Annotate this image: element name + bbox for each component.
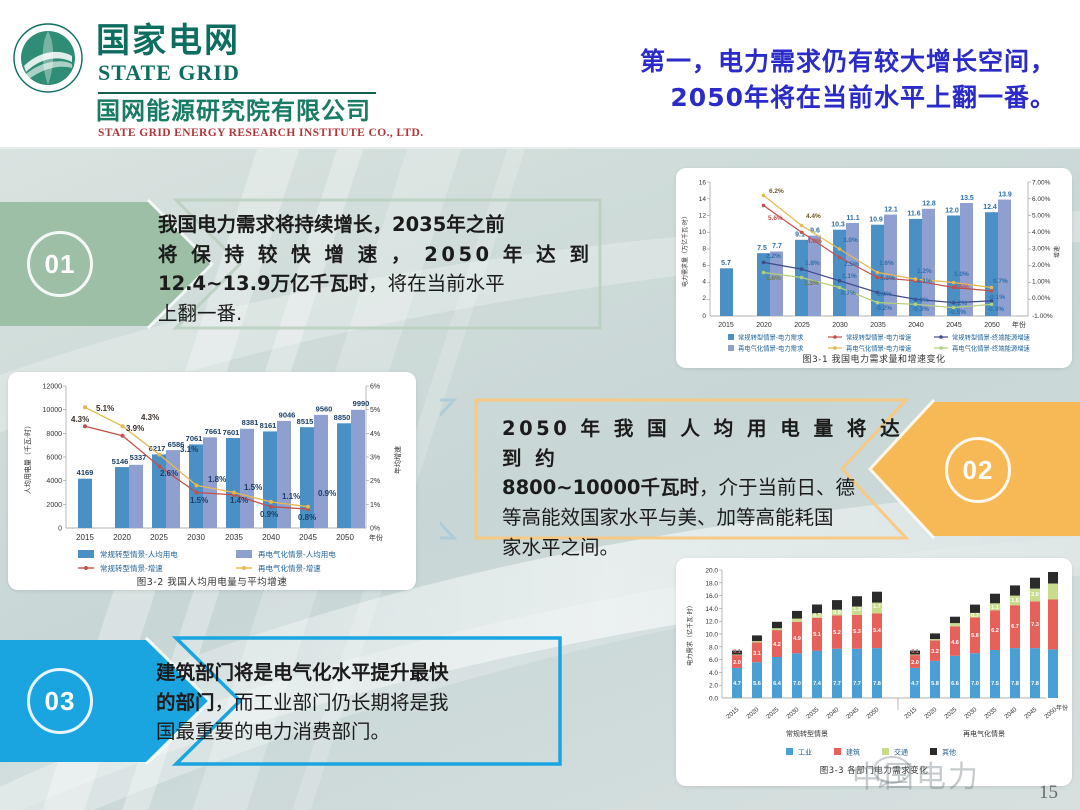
- svg-text:6.0: 6.0: [709, 657, 718, 664]
- chart-card-fig3-2: 12000100008000 600040002000 0 6%5%4% 3%2…: [8, 372, 416, 590]
- svg-text:5.7: 5.7: [721, 260, 731, 267]
- svg-text:5.6: 5.6: [971, 633, 979, 639]
- svg-text:2.0: 2.0: [733, 660, 741, 666]
- svg-text:0.9: 0.9: [833, 610, 841, 616]
- svg-text:1.1%: 1.1%: [917, 278, 932, 285]
- svg-text:0.7: 0.7: [813, 613, 821, 619]
- svg-text:2030: 2030: [832, 322, 848, 329]
- svg-text:再电气化情景-人均用电: 再电气化情景-人均用电: [258, 549, 336, 559]
- svg-text:1.2%: 1.2%: [917, 268, 932, 275]
- svg-text:3.00%: 3.00%: [1032, 246, 1051, 253]
- svg-text:3.2: 3.2: [931, 649, 939, 655]
- svg-text:0: 0: [58, 526, 62, 533]
- svg-text:12.4: 12.4: [983, 204, 997, 211]
- header-divider: [0, 147, 1080, 149]
- svg-text:5.2: 5.2: [833, 630, 841, 636]
- svg-text:0%: 0%: [370, 526, 380, 533]
- svg-text:5337: 5337: [130, 453, 147, 462]
- svg-text:2.6%: 2.6%: [160, 469, 178, 478]
- svg-text:2040: 2040: [262, 533, 280, 542]
- svg-text:4.2: 4.2: [773, 642, 781, 648]
- svg-text:电力需求量（万亿千瓦·时）: 电力需求量（万亿千瓦·时）: [681, 213, 689, 287]
- svg-text:7.0: 7.0: [971, 681, 979, 687]
- svg-text:2035: 2035: [870, 322, 886, 329]
- svg-text:常规转型情景: 常规转型情景: [786, 729, 828, 738]
- callout-03-line2: 的部门: [156, 691, 215, 714]
- svg-text:6.4: 6.4: [773, 681, 782, 687]
- svg-text:3.1%: 3.1%: [180, 445, 198, 454]
- chart-fig3-1: 161412 1086 420 7.00%6.00%5.00% 4.00%3.0…: [676, 168, 1072, 368]
- svg-text:4.9: 4.9: [793, 636, 801, 642]
- svg-text:12000: 12000: [43, 384, 63, 391]
- svg-text:1.1%: 1.1%: [842, 273, 857, 280]
- svg-text:1.5%: 1.5%: [190, 496, 208, 505]
- svg-text:0.0%: 0.0%: [914, 297, 929, 304]
- svg-text:2025: 2025: [150, 533, 168, 542]
- svg-text:5.4: 5.4: [873, 628, 882, 634]
- svg-text:4169: 4169: [77, 468, 94, 477]
- svg-text:5146: 5146: [112, 457, 129, 466]
- svg-text:-0.3%: -0.3%: [912, 306, 929, 313]
- svg-text:16.0: 16.0: [705, 593, 718, 600]
- callout-02-line3: 等高能效国家水平与美、加等高能耗国: [502, 506, 834, 529]
- svg-text:-0.2%: -0.2%: [875, 305, 892, 312]
- svg-text:7.0: 7.0: [793, 681, 801, 687]
- svg-text:2.0: 2.0: [1031, 592, 1039, 598]
- svg-text:2.5%: 2.5%: [844, 261, 859, 268]
- svg-text:10.9: 10.9: [869, 217, 883, 224]
- svg-text:4.00%: 4.00%: [1032, 229, 1051, 236]
- callout-01-line1: 我国电力需求将持续增长，2035年之前: [158, 213, 505, 236]
- callout-01-line2: 将 保 持 较 快 增 速 ， 2050 年 达 到: [158, 243, 592, 266]
- slide-title-line2: 2050年将在当前水平上翻一番。: [536, 80, 1056, 116]
- svg-text:-1.00%: -1.00%: [1032, 313, 1053, 320]
- callout-03-line3: 国最重要的电力消费部门。: [156, 720, 390, 743]
- callout-02[interactable]: 02 2050 年 我 国 人 均 用 电 量 将 达 到 约 8800~100…: [440, 398, 1080, 540]
- callout-01-line4: 上翻一番.: [158, 302, 242, 325]
- svg-text:4000: 4000: [46, 478, 62, 485]
- svg-text:5%: 5%: [370, 407, 380, 414]
- svg-text:6.7: 6.7: [1011, 624, 1019, 630]
- svg-text:5.3: 5.3: [853, 629, 861, 635]
- svg-text:1.0%: 1.0%: [954, 271, 969, 278]
- svg-text:年份: 年份: [1056, 704, 1068, 712]
- svg-text:7661: 7661: [205, 427, 222, 436]
- svg-text:2.00%: 2.00%: [1032, 262, 1051, 269]
- callout-01-text: 我国电力需求将持续增长，2035年之前 将 保 持 较 快 增 速 ， 2050…: [158, 210, 610, 329]
- svg-text:-0.1%: -0.1%: [988, 294, 1005, 301]
- svg-text:11.1: 11.1: [846, 215, 859, 222]
- svg-text:6.00%: 6.00%: [1032, 196, 1051, 203]
- svg-text:5.6: 5.6: [753, 681, 761, 687]
- svg-text:1%: 1%: [370, 502, 380, 509]
- institute-name-en: STATE GRID ENERGY RESEARCH INSTITUTE CO.…: [98, 128, 423, 140]
- svg-text:增速: 增速: [1053, 246, 1061, 258]
- callout-03-line1: 建筑部门将是电气化水平提升最快: [156, 661, 449, 684]
- svg-text:4.0: 4.0: [709, 670, 718, 677]
- svg-text:0.7%: 0.7%: [993, 278, 1008, 285]
- svg-text:2%: 2%: [370, 478, 380, 485]
- svg-text:2.0: 2.0: [709, 683, 718, 690]
- svg-text:8000: 8000: [46, 431, 62, 438]
- svg-text:3.1: 3.1: [753, 651, 761, 657]
- svg-text:14: 14: [699, 196, 707, 203]
- svg-text:年份: 年份: [369, 533, 383, 542]
- svg-text:2020: 2020: [756, 322, 772, 329]
- chart-card-fig3-1: 161412 1086 420 7.00%6.00%5.00% 4.00%3.0…: [676, 168, 1072, 368]
- chart-fig3-1-caption: 图3-1 我国电力需求量和增速变化: [676, 352, 1072, 365]
- svg-text:1.7: 1.7: [873, 604, 881, 610]
- institute-name-cn: 国网能源研究院有限公司: [96, 98, 371, 124]
- svg-text:16: 16: [699, 180, 707, 187]
- callout-02-line2: 8800~10000千瓦时: [502, 476, 699, 499]
- svg-text:2.0: 2.0: [911, 660, 919, 666]
- svg-text:3%: 3%: [370, 455, 380, 462]
- svg-text:0.7: 0.7: [971, 613, 979, 619]
- callout-01-number: 01: [45, 249, 76, 280]
- svg-text:常规转型情景-电力需求: 常规转型情景-电力需求: [738, 333, 804, 342]
- svg-text:13.9: 13.9: [998, 192, 1012, 199]
- svg-text:12.8: 12.8: [922, 201, 936, 208]
- svg-text:4.0%: 4.0%: [807, 238, 822, 245]
- svg-text:7.7: 7.7: [853, 681, 861, 687]
- svg-text:0.3: 0.3: [773, 623, 781, 629]
- svg-text:4: 4: [702, 279, 706, 286]
- svg-text:再电气化情景: 再电气化情景: [963, 729, 1005, 738]
- svg-text:人均用电量（千瓦·时）: 人均用电量（千瓦·时）: [23, 422, 32, 494]
- svg-text:20.0: 20.0: [705, 568, 718, 575]
- svg-text:12.1: 12.1: [884, 207, 898, 214]
- svg-text:1.1: 1.1: [991, 605, 999, 611]
- svg-text:8515: 8515: [297, 417, 314, 426]
- svg-text:0.9%: 0.9%: [260, 510, 278, 519]
- svg-text:10: 10: [699, 229, 707, 236]
- svg-text:8.0: 8.0: [709, 644, 718, 651]
- svg-text:4.3%: 4.3%: [71, 415, 89, 424]
- svg-text:2: 2: [702, 295, 706, 302]
- svg-text:1.1%: 1.1%: [282, 492, 300, 501]
- svg-text:7601: 7601: [223, 428, 240, 437]
- svg-text:2.2%: 2.2%: [766, 253, 781, 260]
- svg-text:常规转型情景-增速: 常规转型情景-增速: [100, 563, 163, 573]
- svg-text:工业: 工业: [798, 748, 812, 757]
- chart-fig3-2-caption: 图3-2 我国人均用电量与平均增速: [8, 574, 416, 588]
- svg-text:9046: 9046: [279, 411, 296, 420]
- svg-text:1.5: 1.5: [1011, 598, 1019, 604]
- callout-02-line4: 家水平之间。: [502, 536, 619, 559]
- svg-text:2030: 2030: [187, 533, 205, 542]
- callout-03-number: 03: [45, 686, 76, 717]
- svg-text:2020: 2020: [113, 533, 131, 542]
- svg-text:0.8%: 0.8%: [298, 513, 316, 522]
- svg-text:2025: 2025: [794, 322, 810, 329]
- svg-text:年均增速: 年均增速: [393, 446, 402, 474]
- svg-text:1.8%: 1.8%: [805, 260, 820, 267]
- brand-name-en: STATE GRID: [98, 62, 240, 84]
- slide-title-line1: 第一，电力需求仍有较大增长空间，: [536, 44, 1056, 80]
- svg-text:2035: 2035: [225, 533, 243, 542]
- callout-02-number: 02: [963, 455, 994, 486]
- svg-text:常规转型情景-电力增速: 常规转型情景-电力增速: [846, 333, 912, 342]
- svg-text:0.9%: 0.9%: [318, 489, 336, 498]
- svg-text:3.9%: 3.9%: [126, 424, 144, 433]
- slide-title: 第一，电力需求仍有较大增长空间， 2050年将在当前水平上翻一番。: [536, 44, 1056, 117]
- svg-text:2050: 2050: [984, 322, 1000, 329]
- svg-text:4.6: 4.6: [951, 640, 959, 646]
- svg-text:18.0: 18.0: [705, 580, 718, 587]
- svg-text:7.3: 7.3: [1031, 622, 1039, 628]
- svg-text:4%: 4%: [370, 431, 380, 438]
- svg-text:1.8%: 1.8%: [208, 475, 226, 484]
- svg-text:10.0: 10.0: [705, 632, 718, 639]
- svg-text:7.5: 7.5: [991, 681, 999, 687]
- state-grid-emblem-icon: [12, 22, 84, 94]
- svg-text:再电气化情景-增速: 再电气化情景-增速: [258, 563, 321, 573]
- svg-text:2040: 2040: [908, 322, 924, 329]
- svg-text:5.6%: 5.6%: [768, 215, 783, 222]
- svg-text:0.00%: 0.00%: [1032, 295, 1051, 302]
- svg-text:2045: 2045: [299, 533, 317, 542]
- svg-text:0.5: 0.5: [951, 618, 959, 624]
- svg-text:电力需求（亿千瓦·时）: 电力需求（亿千瓦·时）: [686, 602, 694, 666]
- callout-02-line2b: ，介于当前日、德: [699, 476, 855, 499]
- svg-text:年份: 年份: [1012, 320, 1026, 329]
- svg-text:6.6: 6.6: [951, 681, 959, 687]
- svg-text:5.00%: 5.00%: [1032, 213, 1051, 220]
- svg-text:7061: 7061: [186, 434, 203, 443]
- svg-text:常规转型情景-终端能源增速: 常规转型情景-终端能源增速: [952, 333, 1031, 342]
- svg-text:0.5%: 0.5%: [954, 284, 969, 291]
- svg-text:2000: 2000: [46, 502, 62, 509]
- svg-text:1.4%: 1.4%: [230, 496, 248, 505]
- callout-01-line3b: ，将在当前水平: [368, 272, 505, 295]
- svg-text:8161: 8161: [260, 421, 277, 430]
- callout-02-badge: 02: [940, 436, 1016, 504]
- svg-text:6.2%: 6.2%: [769, 188, 784, 195]
- svg-text:2015: 2015: [718, 322, 734, 329]
- svg-text:9560: 9560: [316, 405, 333, 414]
- svg-text:12: 12: [699, 213, 707, 220]
- svg-text:7.00%: 7.00%: [1032, 180, 1051, 187]
- svg-text:0: 0: [702, 313, 706, 320]
- svg-text:0.7%: 0.7%: [841, 290, 856, 297]
- svg-text:7.8: 7.8: [1031, 681, 1039, 687]
- page-number: 15: [1039, 782, 1058, 804]
- callout-02-text: 2050 年 我 国 人 均 用 电 量 将 达 到 约 8800~10000千…: [502, 414, 922, 562]
- svg-text:1.3%: 1.3%: [880, 275, 895, 282]
- svg-text:4.7: 4.7: [733, 681, 741, 687]
- chart-fig3-2: 12000100008000 600040002000 0 6%5%4% 3%2…: [8, 372, 416, 590]
- svg-text:7.7: 7.7: [772, 243, 782, 250]
- svg-text:7.7: 7.7: [833, 681, 841, 687]
- svg-text:6%: 6%: [370, 384, 380, 391]
- svg-text:4.3%: 4.3%: [141, 413, 159, 422]
- brand-name-cn: 国家电网: [96, 24, 240, 58]
- callout-03-badge: 03: [22, 667, 98, 735]
- svg-text:-0.5%: -0.5%: [949, 309, 966, 316]
- svg-text:5.1: 5.1: [813, 632, 821, 638]
- callout-03[interactable]: 03 建筑部门将是电气化水平提升最快 的部门，而工业部门仍长期将是我 国最重要的…: [0, 632, 620, 770]
- svg-text:10.3: 10.3: [831, 222, 845, 229]
- svg-text:3.0%: 3.0%: [843, 237, 858, 244]
- svg-text:7.8: 7.8: [1011, 681, 1019, 687]
- callout-01-line3: 12.4~13.9万亿千瓦时: [158, 272, 368, 295]
- svg-text:0.0: 0.0: [709, 696, 718, 703]
- svg-text:12.0: 12.0: [945, 208, 959, 215]
- svg-text:7.5: 7.5: [757, 245, 767, 252]
- svg-text:常规转型情景-人均用电: 常规转型情景-人均用电: [100, 549, 178, 559]
- svg-text:7.8: 7.8: [873, 681, 881, 687]
- svg-text:0.1: 0.1: [733, 649, 741, 655]
- svg-text:4.7: 4.7: [911, 681, 919, 687]
- svg-text:1.6%: 1.6%: [766, 275, 781, 282]
- callout-03-line2b: ，而工业部门仍长期将是我: [215, 691, 449, 714]
- svg-text:13.5: 13.5: [960, 195, 974, 202]
- svg-text:8850: 8850: [334, 413, 351, 422]
- svg-text:1.3: 1.3: [853, 607, 861, 613]
- svg-text:1.3%: 1.3%: [804, 280, 819, 287]
- callout-01[interactable]: 01 我国电力需求将持续增长，2035年之前 将 保 持 较 快 增 速 ， 2…: [0, 196, 620, 332]
- svg-text:8381: 8381: [242, 418, 259, 427]
- svg-text:-0.3%: -0.3%: [987, 306, 1004, 313]
- svg-text:9990: 9990: [353, 399, 370, 408]
- svg-text:0.2: 0.2: [931, 634, 939, 640]
- svg-text:6000: 6000: [46, 455, 62, 462]
- svg-text:0.4%: 0.4%: [877, 291, 892, 298]
- svg-text:1.00%: 1.00%: [1032, 279, 1051, 286]
- svg-text:4.4%: 4.4%: [806, 213, 821, 220]
- slide-root: 国家电网 STATE GRID 国网能源研究院有限公司 STATE GRID E…: [0, 0, 1080, 810]
- svg-text:7.4: 7.4: [813, 681, 822, 687]
- svg-text:-0.2%: -0.2%: [950, 300, 967, 307]
- watermark-text: 中国电力: [852, 752, 980, 796]
- svg-text:0.2: 0.2: [753, 636, 761, 642]
- svg-text:11.6: 11.6: [907, 211, 920, 218]
- svg-text:0.5: 0.5: [793, 613, 801, 619]
- svg-text:8: 8: [702, 246, 706, 253]
- callout-03-text: 建筑部门将是电气化水平提升最快 的部门，而工业部门仍长期将是我 国最重要的电力消…: [156, 658, 556, 747]
- svg-text:12.0: 12.0: [705, 619, 718, 626]
- svg-text:2015: 2015: [76, 533, 94, 542]
- brand-divider: [98, 92, 376, 94]
- callout-01-badge: 01: [22, 230, 98, 298]
- svg-text:10000: 10000: [43, 407, 63, 414]
- svg-text:5.1%: 5.1%: [96, 404, 114, 413]
- brand-logo: 国家电网 STATE GRID 国网能源研究院有限公司 STATE GRID E…: [12, 18, 432, 138]
- svg-text:1.5%: 1.5%: [244, 483, 262, 492]
- svg-text:2050: 2050: [336, 533, 354, 542]
- svg-text:1.6%: 1.6%: [879, 260, 894, 267]
- svg-text:14.0: 14.0: [705, 606, 718, 613]
- svg-text:0.1: 0.1: [911, 649, 919, 655]
- svg-text:2045: 2045: [946, 322, 962, 329]
- callout-02-line1: 2050 年 我 国 人 均 用 电 量 将 达 到 约: [502, 417, 903, 470]
- svg-text:5.8: 5.8: [931, 681, 939, 687]
- svg-text:6.2: 6.2: [991, 628, 999, 634]
- svg-text:6: 6: [702, 262, 706, 269]
